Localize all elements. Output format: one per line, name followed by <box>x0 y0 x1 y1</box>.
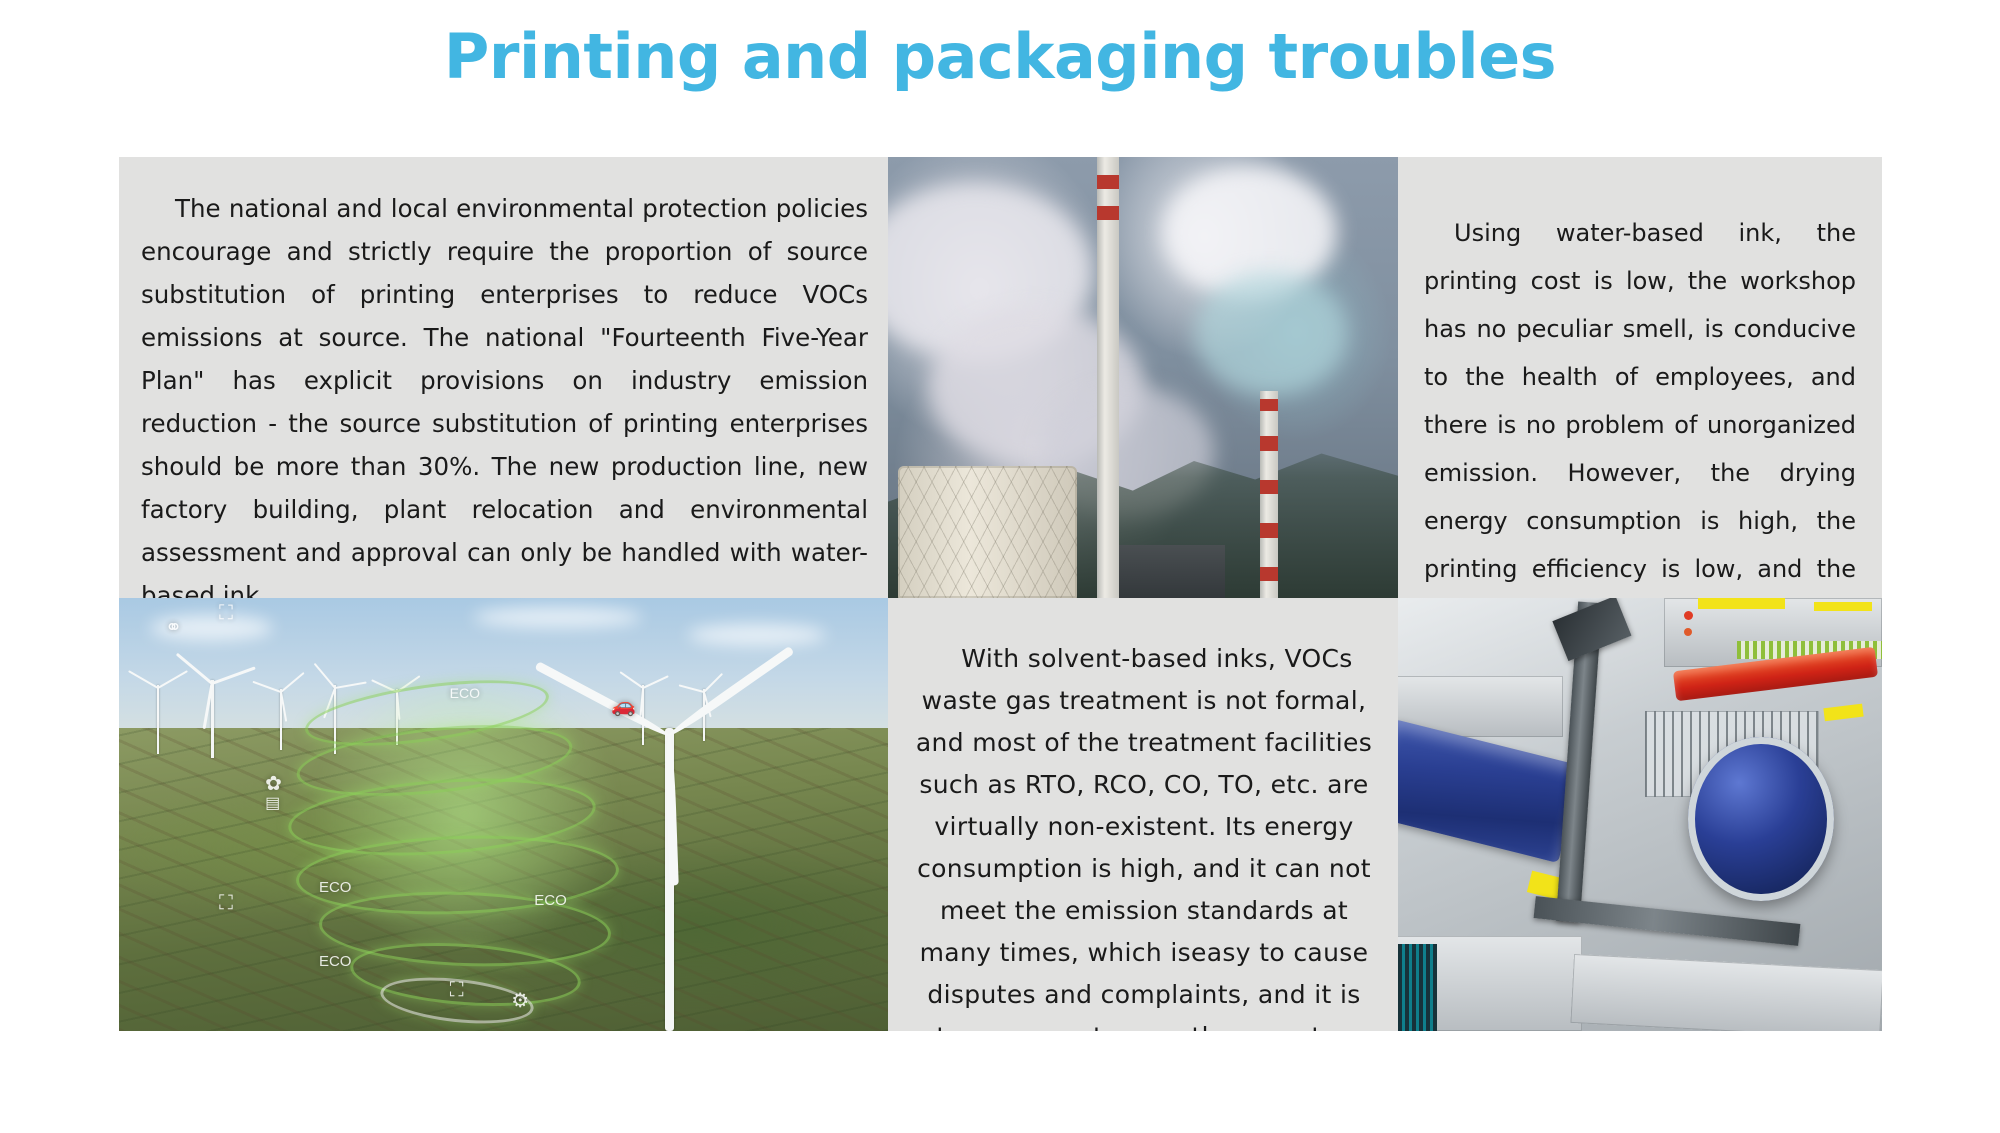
panel-left-top-text: The national and local environmental pro… <box>119 157 888 598</box>
panel-right-top-text: Using water-based ink, the printing cost… <box>1398 157 1882 598</box>
wind-turbine-large <box>665 728 673 1031</box>
panel-right-bottom-image <box>1398 598 1882 1031</box>
cloud-icon <box>688 624 826 646</box>
eco-badge-icon: ECO <box>534 892 567 909</box>
location-pin-icon: ⚭ <box>165 615 182 640</box>
smokestack-small <box>1260 391 1277 598</box>
panel-middle-bottom-text: With solvent-based inks, VOCs waste gas … <box>888 598 1398 1031</box>
yellow-tape <box>1814 602 1872 611</box>
cooling-tower <box>898 466 1077 598</box>
printing-press-photo <box>1398 598 1882 1031</box>
chimney-stripe <box>1097 206 1118 220</box>
wind-turbine-small <box>211 680 213 758</box>
panel-left-bottom-image: ⚭ ⛶ ECO ✿ ▤ ECO ECO ECO ⛶ ⛶ ⚙ 🚗 <box>119 598 888 1031</box>
smokestack-photo <box>888 157 1398 598</box>
panel-middle-top-image <box>888 157 1398 598</box>
wind-turbine-small <box>157 685 159 754</box>
battery-icon: ▤ <box>265 793 280 813</box>
smokestack-large <box>1097 157 1118 598</box>
emergency-stop-icon <box>1684 611 1693 620</box>
wind-turbine-small <box>280 689 282 750</box>
slide-root: Printing and packaging troubles The nati… <box>0 0 2000 1133</box>
paragraph-water-based-ink: Using water-based ink, the printing cost… <box>1398 157 1882 598</box>
cloud-icon <box>473 607 642 629</box>
chimney-stripe <box>1260 436 1277 451</box>
chimney-stripe <box>1260 523 1277 538</box>
yellow-tape <box>1698 598 1785 609</box>
charging-station-icon: ⛶ <box>219 892 233 915</box>
chimney-stripe <box>1097 175 1118 189</box>
wind-farm-photo: ⚭ ⛶ ECO ✿ ▤ ECO ECO ECO ⛶ ⛶ ⚙ 🚗 <box>119 598 888 1031</box>
paragraph-solvent-based-inks: With solvent-based inks, VOCs waste gas … <box>888 598 1398 1031</box>
charging-station-icon: ⛶ <box>219 602 233 625</box>
blue-ink-bucket <box>1688 737 1833 902</box>
electric-car-icon: 🚗 <box>611 693 636 718</box>
paragraph-policy: The national and local environmental pro… <box>119 157 888 598</box>
chimney-stripe <box>1260 567 1277 582</box>
eco-badge-icon: ECO <box>319 879 352 896</box>
eco-badge-icon: ECO <box>319 953 352 970</box>
chimney-stripe <box>1260 399 1277 411</box>
plant-building <box>1112 545 1224 598</box>
indicator-light-icon <box>1684 628 1692 636</box>
content-grid: The national and local environmental pro… <box>119 157 1882 1031</box>
smoke-plume-icon <box>1194 272 1347 395</box>
chimney-stripe <box>1260 480 1277 495</box>
wind-turbine-small <box>642 685 644 746</box>
page-title: Printing and packaging troubles <box>0 24 2000 89</box>
charging-station-icon: ⛶ <box>450 979 464 1002</box>
teal-mesh-panel <box>1398 944 1437 1031</box>
wind-turbine-icon: ⚙ <box>511 988 529 1013</box>
eco-badge-icon: ECO <box>450 685 480 701</box>
